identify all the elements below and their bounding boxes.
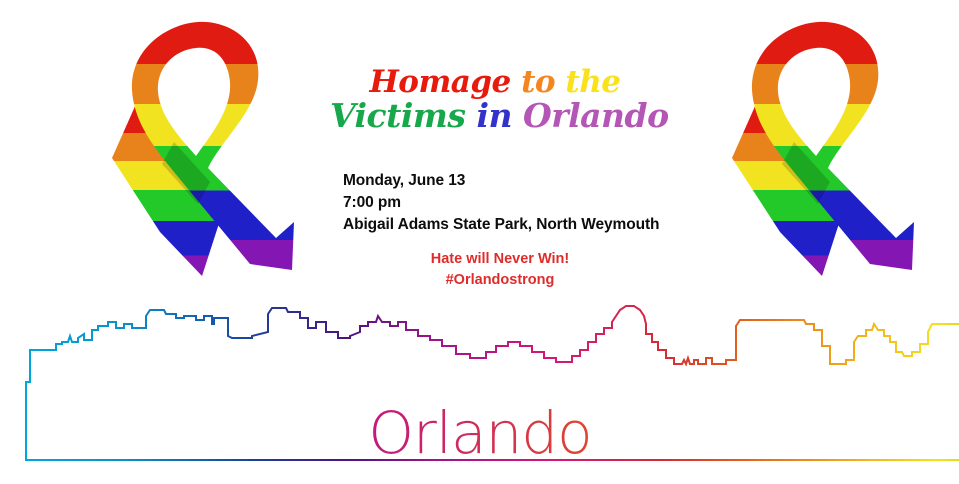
headline-word-to: to — [521, 64, 555, 100]
poster-canvas: Homage to the Victims in Orlando Monday,… — [0, 0, 959, 484]
event-date: Monday, June 13 — [343, 170, 659, 192]
rainbow-ribbon-right — [698, 8, 938, 298]
headline-word-victims: Victims — [330, 96, 465, 135]
headline-line-2: Victims in Orlando — [330, 99, 660, 134]
headline-word-in: in — [476, 96, 512, 135]
event-time: 7:00 pm — [343, 192, 659, 214]
orlando-wordmark: Orlando — [330, 404, 630, 462]
headline: Homage to the Victims in Orlando — [330, 66, 660, 134]
slogan-line-1: Hate will Never Win! — [350, 249, 650, 270]
rainbow-ribbon-left — [78, 8, 318, 298]
headline-line-1: Homage to the — [330, 66, 660, 99]
event-details: Monday, June 13 7:00 pm Abigail Adams St… — [343, 170, 659, 236]
headline-word-orlando: Orlando — [523, 96, 669, 135]
orlando-wordmark-text: Orlando — [368, 399, 591, 467]
headline-word-homage: Homage — [370, 64, 511, 100]
headline-word-the: the — [565, 64, 620, 100]
event-location: Abigail Adams State Park, North Weymouth — [343, 214, 659, 236]
